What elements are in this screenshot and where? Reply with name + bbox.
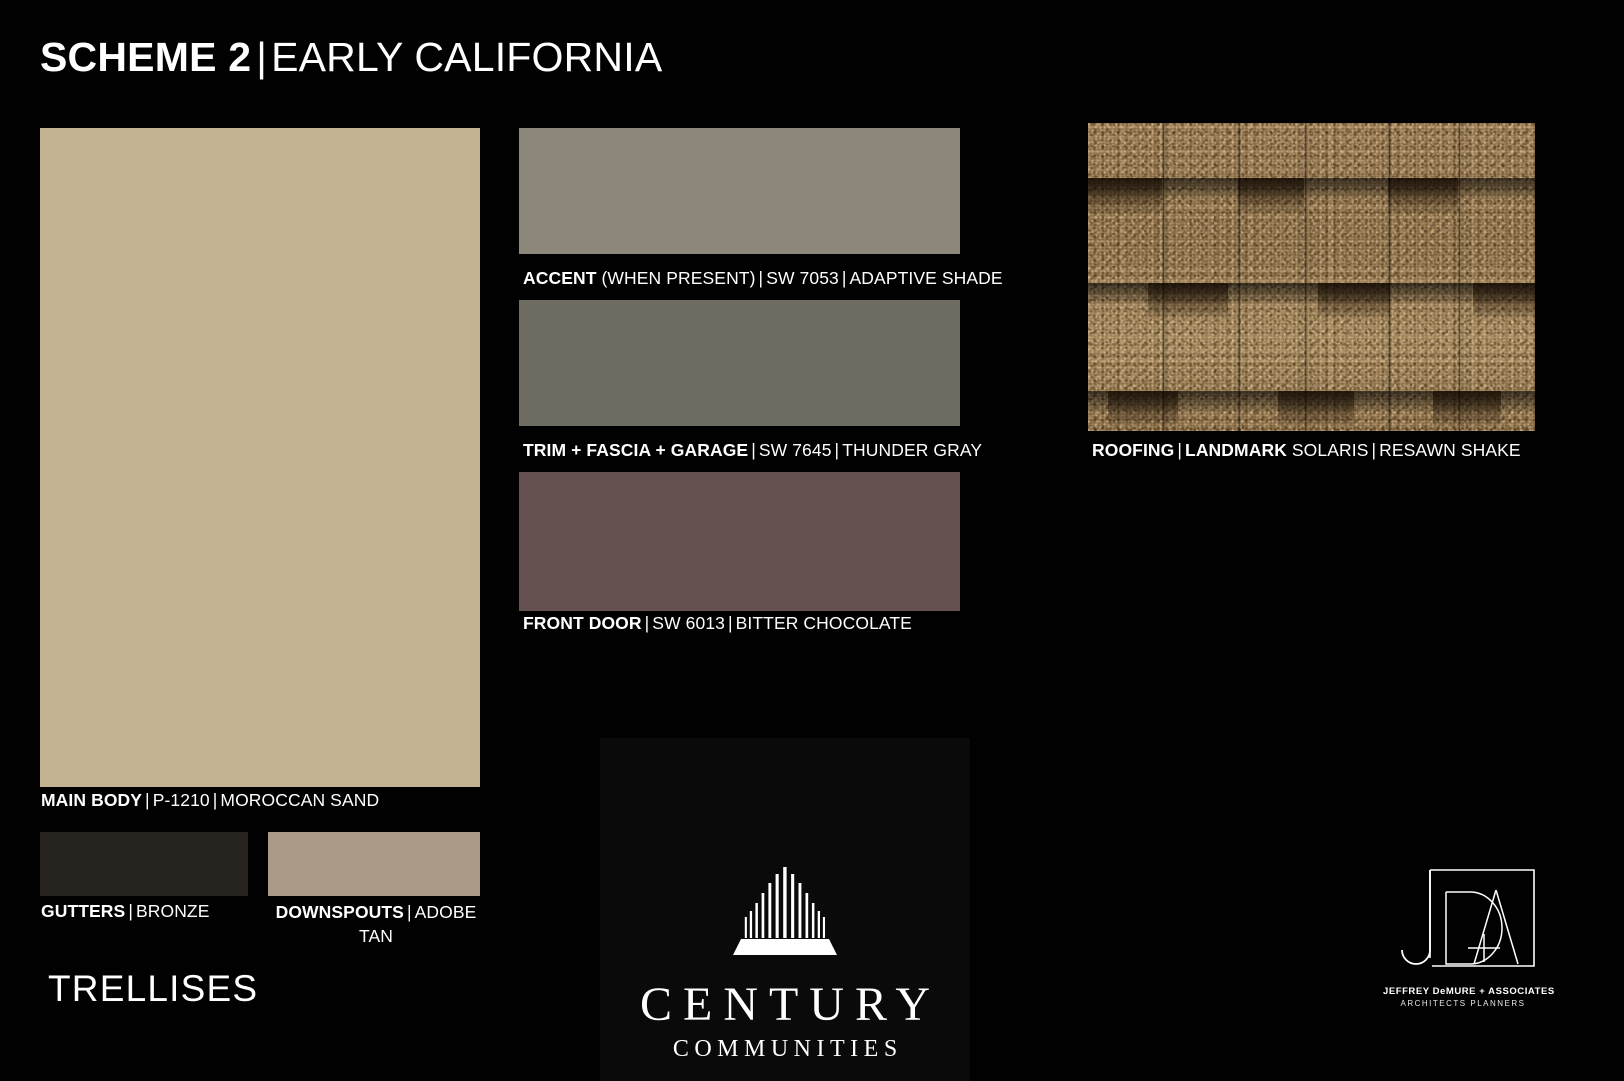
swatch-main-body — [40, 128, 480, 787]
downspouts-sep-1: | — [404, 902, 415, 922]
swatch-accent — [519, 128, 960, 254]
jda-monogram-icon — [1383, 862, 1543, 979]
roof-butt-shadow — [1388, 178, 1458, 212]
main-body-sep-1: | — [142, 790, 153, 810]
swatch-label-roofing: ROOFING|LANDMARK SOLARIS|RESAWN SHAKE — [1092, 439, 1521, 462]
jda-logo: JEFFREY DeMURE + ASSOCIATES ARCHITECTS P… — [1383, 862, 1543, 1008]
gutters-sep-1: | — [125, 901, 136, 921]
century-wordmark: CENTURY — [629, 979, 941, 1031]
roof-butt-shadow — [1318, 283, 1390, 317]
accent-sep-2: | — [839, 268, 850, 288]
title-separator: | — [251, 34, 271, 80]
gutters-role: GUTTERS — [41, 901, 125, 921]
roof-tab-line — [1304, 123, 1307, 431]
trim-sep-1: | — [748, 440, 759, 460]
color-scheme-board: SCHEME 2|EARLY CALIFORNIA MAIN BODY|P-12… — [0, 0, 1624, 1081]
main-body-role: MAIN BODY — [41, 790, 142, 810]
roofing-role: ROOFING — [1092, 440, 1174, 460]
roof-tab-line — [1458, 123, 1461, 431]
roof-tab-line — [1388, 123, 1391, 431]
century-communities-logo: CENTURY COMMUNITIES — [600, 738, 970, 1081]
century-spire-icon — [725, 865, 845, 965]
roof-butt-shadow — [1108, 391, 1178, 425]
front-door-code: SW 6013 — [652, 613, 725, 633]
main-body-color-name: MOROCCAN SAND — [220, 790, 379, 810]
front-door-sep-2: | — [725, 613, 736, 633]
roofing-series: SOLARIS — [1292, 440, 1369, 460]
swatch-gutters — [40, 832, 248, 896]
accent-role: ACCENT — [523, 268, 597, 288]
roof-tab-line — [1162, 123, 1165, 431]
trellises-heading: TRELLISES — [48, 966, 258, 1012]
main-body-sep-2: | — [210, 790, 221, 810]
trim-sep-2: | — [832, 440, 843, 460]
swatch-front-door — [519, 472, 960, 611]
accent-sep-1: | — [756, 268, 767, 288]
roofing-product: LANDMARK — [1185, 440, 1287, 460]
roof-butt-shadow — [1238, 178, 1304, 212]
accent-code: SW 7053 — [766, 268, 839, 288]
swatch-label-trim: TRIM + FASCIA + GARAGE|SW 7645|THUNDER G… — [523, 439, 982, 462]
jda-tagline-primary: JEFFREY DeMURE + ASSOCIATES — [1383, 986, 1543, 997]
page-title: SCHEME 2|EARLY CALIFORNIA — [40, 33, 662, 81]
front-door-color-name: BITTER CHOCOLATE — [736, 613, 912, 633]
roofing-color-name: RESAWN SHAKE — [1379, 440, 1521, 460]
downspouts-role: DOWNSPOUTS — [276, 902, 404, 922]
roof-butt-shadow — [1278, 391, 1354, 425]
accent-qualifier: (WHEN PRESENT) — [601, 268, 755, 288]
roof-butt-shadow — [1473, 283, 1535, 317]
jda-tagline-secondary: ARCHITECTS PLANNERS — [1383, 999, 1543, 1008]
accent-color-name: ADAPTIVE SHADE — [850, 268, 1003, 288]
century-subtitle: COMMUNITIES — [667, 1035, 902, 1063]
swatch-label-downspouts: DOWNSPOUTS|ADOBE TAN — [273, 900, 479, 948]
swatch-roofing-shingle — [1088, 123, 1535, 431]
title-scheme-name: EARLY CALIFORNIA — [271, 34, 662, 80]
trim-color-name: THUNDER GRAY — [842, 440, 982, 460]
roof-granule-texture — [1088, 123, 1535, 431]
main-body-code: P-1210 — [153, 790, 210, 810]
swatch-downspouts — [268, 832, 480, 896]
front-door-role: FRONT DOOR — [523, 613, 642, 633]
roof-tab-line — [1238, 123, 1241, 431]
roof-butt-shadow — [1148, 283, 1228, 317]
roofing-sep-1: | — [1174, 440, 1185, 460]
title-scheme: SCHEME 2 — [40, 34, 251, 80]
swatch-label-main-body: MAIN BODY|P-1210|MOROCCAN SAND — [41, 789, 379, 812]
trim-role: TRIM + FASCIA + GARAGE — [523, 440, 748, 460]
gutters-color-name: BRONZE — [136, 901, 210, 921]
trim-code: SW 7645 — [759, 440, 832, 460]
front-door-sep-1: | — [642, 613, 653, 633]
swatch-label-accent: ACCENT (WHEN PRESENT)|SW 7053|ADAPTIVE S… — [523, 267, 1003, 290]
roof-butt-shadow — [1088, 178, 1162, 212]
swatch-label-gutters: GUTTERS|BRONZE — [41, 900, 210, 923]
roof-butt-shadow — [1433, 391, 1501, 425]
roofing-sep-2: | — [1368, 440, 1379, 460]
swatch-label-front-door: FRONT DOOR|SW 6013|BITTER CHOCOLATE — [523, 612, 912, 635]
swatch-trim-fascia-garage — [519, 300, 960, 426]
